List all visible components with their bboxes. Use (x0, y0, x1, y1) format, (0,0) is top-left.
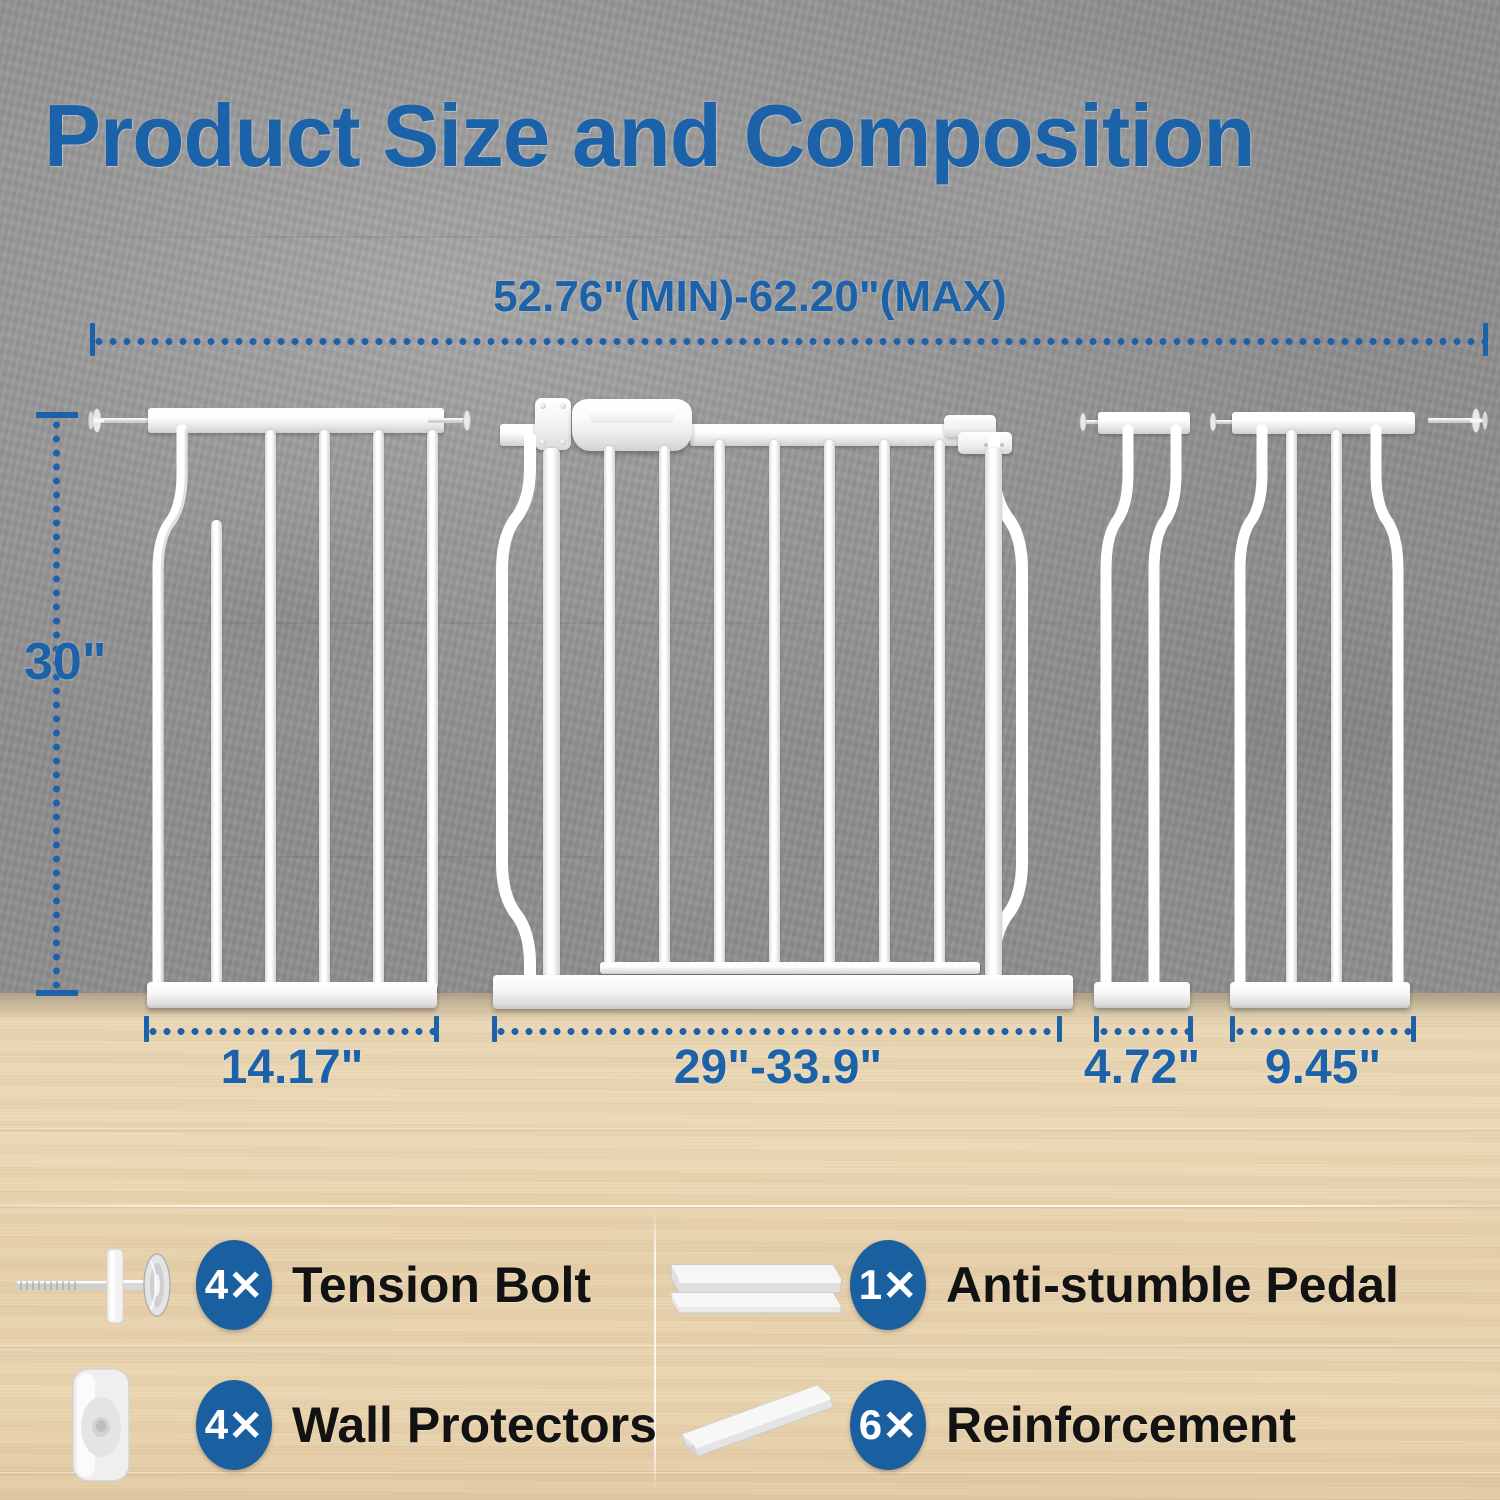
screw-icon (540, 403, 546, 409)
gate-bar (769, 440, 780, 966)
multiplier-icon: ✕ (228, 1401, 263, 1450)
dimension-cap-left (144, 1016, 149, 1042)
gate-bar (824, 440, 835, 966)
reinforcement-icon (660, 1365, 850, 1485)
part-label: Reinforcement (946, 1396, 1296, 1454)
gate-bar (879, 440, 890, 966)
gate-post-right (985, 448, 1002, 990)
segment-label-medium-extension: 9.45" (1232, 1040, 1414, 1095)
segment-dimension-line (494, 1028, 1060, 1035)
quantity-value: 4 (205, 1261, 228, 1309)
overall-width-label: 52.76"(MIN)-62.20"(MAX) (0, 272, 1500, 322)
wall-protector-icon (6, 1365, 196, 1485)
multiplier-icon: ✕ (228, 1261, 263, 1310)
gate-bar (934, 440, 945, 966)
wall-texture-line (0, 622, 1500, 624)
gate-bar-curved (150, 430, 190, 990)
gate-bar (604, 446, 615, 966)
parts-divider-horizontal (12, 1205, 1488, 1207)
tension-bolt-icon (428, 410, 474, 432)
quantity-value: 4 (205, 1401, 228, 1449)
dimension-cap-right (434, 1016, 439, 1042)
quantity-badge: 4✕ (196, 1380, 272, 1470)
gate-bar-curved (1234, 430, 1270, 988)
gate-frame-bar-curved-left (492, 438, 538, 994)
part-label: Tension Bolt (292, 1256, 591, 1314)
tension-bolt-icon (1428, 408, 1494, 434)
list-item: 4✕ Tension Bolt (6, 1225, 591, 1345)
height-label: 30" (24, 632, 107, 692)
page-title: Product Size and Composition (44, 92, 1421, 180)
list-item: 1✕ Anti-stumble Pedal (660, 1225, 1399, 1345)
tension-bolt-icon (82, 408, 154, 434)
dimension-cap-left (1094, 1016, 1099, 1042)
list-item: 6✕ Reinforcement (660, 1365, 1296, 1485)
quantity-badge: 1✕ (850, 1240, 926, 1330)
screw-icon (560, 439, 566, 445)
gate-bar (211, 520, 222, 990)
segment-dimension-line (1233, 1028, 1413, 1035)
gate-bar (1331, 430, 1342, 990)
gate-bar-curved (1100, 430, 1136, 988)
gate-bar-curved (1368, 430, 1408, 988)
gate-bar (714, 440, 725, 966)
gate-bar (427, 430, 438, 990)
part-label: Anti-stumble Pedal (946, 1256, 1399, 1314)
gate-bar (319, 430, 330, 990)
small-extension-base (1094, 982, 1190, 1008)
gate-hinge-plate[interactable] (535, 398, 571, 450)
dimension-cap-right (1057, 1016, 1062, 1042)
gate-inner-bottom-rail (600, 962, 980, 974)
overall-width-dimension-line (92, 338, 1488, 345)
height-dimension-line (53, 418, 60, 996)
dimension-cap-left (1230, 1016, 1235, 1042)
parts-list: 4✕ Tension Bolt 4✕ Wall (0, 1205, 1500, 1500)
gate-bar (265, 430, 276, 990)
dimension-cap-left (90, 323, 95, 356)
dimension-cap-left (492, 1016, 497, 1042)
quantity-value: 6 (859, 1401, 882, 1449)
left-extension-base (147, 982, 437, 1008)
wall-texture-line (0, 236, 1500, 238)
quantity-badge: 6✕ (850, 1380, 926, 1470)
dimension-cap-top (36, 412, 78, 418)
multiplier-icon: ✕ (882, 1261, 917, 1310)
part-label: Wall Protectors (292, 1396, 657, 1454)
wall-texture-line (0, 856, 1500, 858)
handle-grip-notch (589, 410, 675, 423)
segment-label-left-extension: 14.17" (146, 1040, 438, 1095)
screw-icon (560, 403, 566, 409)
list-item: 4✕ Wall Protectors (6, 1365, 657, 1485)
segment-label-small-extension: 4.72" (1062, 1040, 1222, 1095)
product-infographic: Product Size and Composition 52.76"(MIN)… (0, 0, 1500, 1500)
gate-bar (1286, 430, 1297, 990)
anti-stumble-pedal-base (493, 975, 1073, 1009)
quantity-badge: 4✕ (196, 1240, 272, 1330)
dimension-cap-right (1411, 1016, 1416, 1042)
multiplier-icon: ✕ (882, 1401, 917, 1450)
gate-latch-handle[interactable] (572, 399, 692, 451)
gate-bar (373, 430, 384, 990)
segment-label-main-gate: 29"-33.9" (494, 1040, 1062, 1095)
dimension-cap-bottom (36, 990, 78, 996)
dimension-cap-right (1483, 323, 1488, 356)
quantity-value: 1 (859, 1261, 882, 1309)
segment-dimension-line (1097, 1028, 1190, 1035)
screw-icon (540, 439, 546, 445)
anti-stumble-pedal-icon (660, 1225, 850, 1345)
gate-bar (659, 446, 670, 966)
gate-post-left (543, 448, 560, 990)
medium-extension-base (1230, 982, 1410, 1008)
floor-plank-seam (0, 1128, 1500, 1131)
segment-dimension-line (146, 1028, 436, 1035)
dimension-cap-right (1188, 1016, 1193, 1042)
tension-bolt-icon (6, 1225, 196, 1345)
left-extension-top-rail (148, 408, 444, 433)
gate-bar-curved (1148, 430, 1184, 988)
